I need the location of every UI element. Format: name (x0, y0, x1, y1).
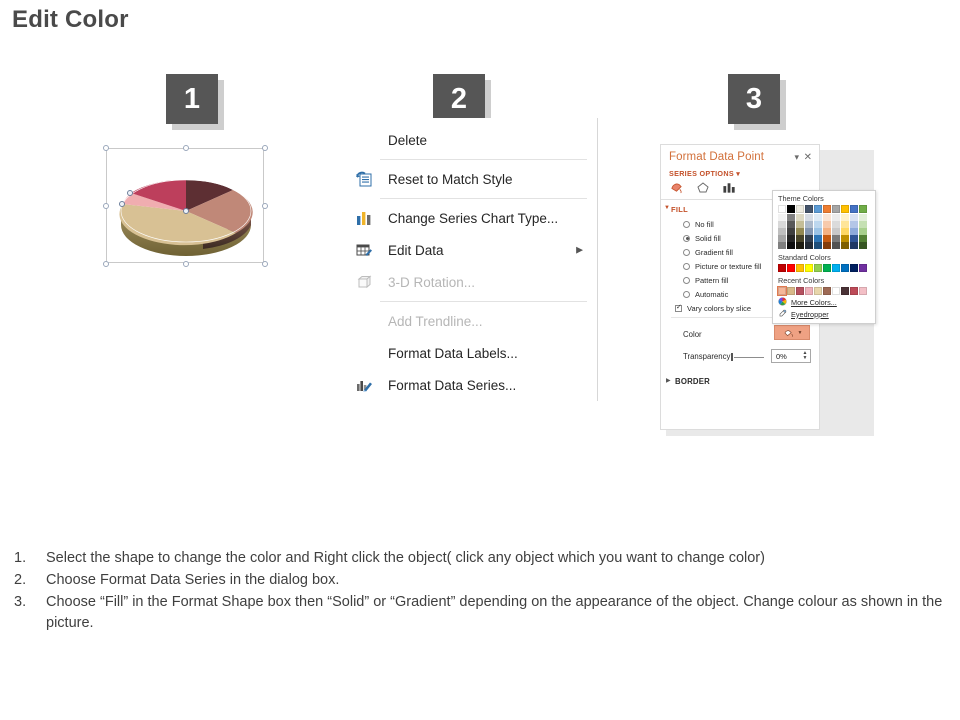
more-colors-label: More Colors... (791, 298, 837, 307)
theme-shade-row-2 (773, 228, 875, 235)
recent-swatch-9[interactable] (859, 287, 867, 295)
standard-swatch-6[interactable] (832, 264, 840, 272)
standard-swatch-8[interactable] (850, 264, 858, 272)
color-dropdown-popup: Theme Colors Standard Colors Recent Colo… (772, 190, 876, 324)
theme-shade-swatch-6-0[interactable] (832, 214, 840, 221)
fill-option-automatic[interactable]: Automatic (683, 287, 761, 301)
datapoint-handle-left-upper[interactable] (127, 190, 133, 196)
theme-shade-swatch-3-3[interactable] (805, 235, 813, 242)
more-colors-button[interactable]: More Colors... (773, 295, 875, 307)
menu-item-add-trendline: Add Trendline... (340, 305, 597, 337)
theme-shade-row-3 (773, 235, 875, 242)
eyedropper-label: Eyedropper (791, 310, 829, 319)
theme-shade-swatch-2-4[interactable] (796, 242, 804, 249)
menu-item-label: Edit Data (388, 243, 444, 258)
standard-colors-row (773, 264, 875, 272)
theme-shade-swatch-4-1[interactable] (814, 221, 822, 228)
instruction-number: 3. (14, 592, 46, 634)
pie-chart-svg (107, 149, 265, 264)
theme-shade-swatch-0-2[interactable] (778, 228, 786, 235)
step-badge-1: 1 (166, 74, 218, 124)
pie-chart-3d[interactable] (107, 149, 265, 264)
resize-handle-s[interactable] (183, 261, 189, 267)
instruction-number: 1. (14, 548, 46, 569)
fill-bucket-icon (782, 328, 796, 338)
transparency-spinner[interactable]: 0% ▲▼ (771, 349, 811, 363)
standard-swatch-1[interactable] (787, 264, 795, 272)
menu-item-label: 3-D Rotation... (388, 275, 475, 290)
theme-shade-swatch-9-1[interactable] (859, 221, 867, 228)
recent-colors-row (773, 287, 875, 295)
fill-section-collapse-icon[interactable]: ▼ (664, 205, 670, 211)
theme-shade-swatch-0-1[interactable] (778, 221, 786, 228)
panel-tab-strip (669, 181, 737, 199)
fill-option-solid-fill[interactable]: Solid fill (683, 231, 761, 245)
checkbox-icon-checked (675, 305, 682, 312)
recent-swatch-4[interactable] (814, 287, 822, 295)
theme-shade-swatch-9-4[interactable] (859, 242, 867, 249)
theme-shade-swatch-6-3[interactable] (832, 235, 840, 242)
rotation-3d-icon (354, 272, 374, 292)
theme-shade-swatch-4-2[interactable] (814, 228, 822, 235)
theme-shade-swatch-3-1[interactable] (805, 221, 813, 228)
chart-selection-frame[interactable] (106, 148, 264, 263)
theme-shade-swatch-3-2[interactable] (805, 228, 813, 235)
page-title: Edit Color (12, 6, 129, 34)
theme-colors-label: Theme Colors (773, 191, 875, 205)
theme-shade-swatch-8-1[interactable] (850, 221, 858, 228)
resize-handle-se[interactable] (262, 261, 268, 267)
menu-item-label: Format Data Series... (388, 378, 516, 393)
radio-icon (683, 277, 690, 284)
theme-shade-swatch-5-2[interactable] (823, 228, 831, 235)
theme-shade-swatch-2-2[interactable] (796, 228, 804, 235)
fill-option-label: Automatic (695, 290, 728, 299)
recent-swatch-0[interactable] (778, 287, 786, 295)
step-badge-3: 3 (728, 74, 780, 124)
theme-shade-swatch-1-2[interactable] (787, 228, 795, 235)
panel-close-icon[interactable]: ✕ (804, 152, 812, 163)
theme-shade-row-0 (773, 214, 875, 221)
menu-separator (380, 198, 587, 199)
menu-separator (380, 301, 587, 302)
radio-icon (683, 291, 690, 298)
menu-item-label: Delete (388, 133, 427, 148)
standard-swatch-5[interactable] (823, 264, 831, 272)
theme-shade-swatch-1-0[interactable] (787, 214, 795, 221)
eyedropper-button[interactable]: Eyedropper (773, 307, 875, 319)
recent-swatch-5[interactable] (823, 287, 831, 295)
standard-swatch-4[interactable] (814, 264, 822, 272)
instructions-list: 1. Select the shape to change the color … (14, 548, 944, 635)
theme-shade-row-4 (773, 242, 875, 249)
recent-swatch-8[interactable] (850, 287, 858, 295)
theme-shade-swatch-4-4[interactable] (814, 242, 822, 249)
theme-shade-swatch-5-0[interactable] (823, 214, 831, 221)
border-section-expand-icon[interactable]: ▶ (666, 377, 671, 384)
theme-shade-swatch-3-4[interactable] (805, 242, 813, 249)
color-label: Color (683, 330, 702, 339)
radio-icon (683, 249, 690, 256)
menu-item-format-data-labels[interactable]: Format Data Labels... (340, 337, 597, 369)
menu-item-label: Format Data Labels... (388, 346, 518, 361)
resize-handle-n[interactable] (183, 145, 189, 151)
blank-icon (354, 343, 374, 363)
blank-icon (354, 311, 374, 331)
panel-title: Format Data Point (669, 151, 764, 163)
theme-shade-swatch-9-0[interactable] (859, 214, 867, 221)
fill-option-gradient-fill[interactable]: Gradient fill (683, 245, 761, 259)
menu-separator (380, 159, 587, 160)
theme-shade-swatch-5-4[interactable] (823, 242, 831, 249)
theme-swatch-2[interactable] (796, 205, 804, 213)
theme-swatch-5[interactable] (823, 205, 831, 213)
transparency-slider-track[interactable] (734, 357, 764, 358)
fill-option-pattern-fill[interactable]: Pattern fill (683, 273, 761, 287)
blank-icon (354, 130, 374, 150)
standard-swatch-3[interactable] (805, 264, 813, 272)
theme-shade-swatch-8-2[interactable] (850, 228, 858, 235)
theme-swatch-8[interactable] (850, 205, 858, 213)
theme-shade-swatch-2-3[interactable] (796, 235, 804, 242)
edit-data-icon (354, 240, 374, 260)
fill-option-no-fill[interactable]: No fill (683, 217, 761, 231)
theme-shade-swatch-1-4[interactable] (787, 242, 795, 249)
resize-handle-sw[interactable] (103, 261, 109, 267)
theme-shade-swatch-7-1[interactable] (841, 221, 849, 228)
series-options-tab-icon[interactable] (722, 181, 737, 199)
theme-swatch-1[interactable] (787, 205, 795, 213)
theme-colors-base-row (773, 205, 875, 213)
recent-swatch-2[interactable] (796, 287, 804, 295)
theme-shade-swatch-4-0[interactable] (814, 214, 822, 221)
menu-item-label: Change Series Chart Type... (388, 211, 558, 226)
series-options-label: SERIES OPTIONS (669, 169, 734, 178)
reset-style-icon (354, 169, 374, 189)
vary-colors-label: Vary colors by slice (687, 304, 751, 313)
radio-icon (683, 221, 690, 228)
theme-shade-swatch-0-3[interactable] (778, 235, 786, 242)
theme-swatch-0[interactable] (778, 205, 786, 213)
radio-icon (683, 263, 690, 270)
menu-item-edit-data[interactable]: Edit Data ▶ (340, 234, 597, 266)
spinner-arrows-icon[interactable]: ▲▼ (801, 350, 809, 362)
theme-shade-swatch-4-3[interactable] (814, 235, 822, 242)
resize-handle-ne[interactable] (262, 145, 268, 151)
chart-type-icon (354, 208, 374, 228)
theme-shade-swatch-7-4[interactable] (841, 242, 849, 249)
theme-shade-swatch-8-0[interactable] (850, 214, 858, 221)
fill-options-list: No fill Solid fill Gradient fill Picture… (683, 217, 761, 315)
instruction-item: 3. Choose “Fill” in the Format Shape box… (14, 592, 944, 634)
instruction-text: Choose Format Data Series in the dialog … (46, 570, 944, 591)
fill-option-label: Picture or texture fill (695, 262, 761, 271)
instruction-text: Choose “Fill” in the Format Shape box th… (46, 592, 944, 634)
resize-handle-w[interactable] (103, 203, 109, 209)
instruction-number: 2. (14, 570, 46, 591)
recent-swatch-7[interactable] (841, 287, 849, 295)
fill-option-picture-or-texture-fill[interactable]: Picture or texture fill (683, 259, 761, 273)
standard-swatch-9[interactable] (859, 264, 867, 272)
theme-shade-swatch-8-4[interactable] (850, 242, 858, 249)
transparency-slider-knob[interactable] (731, 353, 733, 361)
fill-option-label: Pattern fill (695, 276, 728, 285)
menu-item-3d-rotation: 3-D Rotation... (340, 266, 597, 298)
theme-shade-row-1 (773, 221, 875, 228)
fill-section-header: FILL (671, 205, 688, 214)
resize-handle-nw[interactable] (103, 145, 109, 151)
theme-swatch-3[interactable] (805, 205, 813, 213)
color-dropdown-caret-icon: ▼ (798, 330, 803, 336)
fill-option-label: Gradient fill (695, 248, 733, 257)
step-badge-2: 2 (433, 74, 485, 124)
resize-handle-e[interactable] (262, 203, 268, 209)
theme-shade-swatch-9-2[interactable] (859, 228, 867, 235)
instruction-text: Select the shape to change the color and… (46, 548, 944, 569)
fill-option-label: No fill (695, 220, 714, 229)
theme-shade-swatch-8-3[interactable] (850, 235, 858, 242)
fill-option-label: Solid fill (695, 234, 721, 243)
border-section-header: BORDER (675, 377, 710, 386)
theme-swatch-4[interactable] (814, 205, 822, 213)
datapoint-handle-center[interactable] (183, 208, 189, 214)
menu-item-delete[interactable]: Delete (340, 124, 597, 156)
radio-icon-selected (683, 235, 690, 242)
theme-shade-swatch-5-3[interactable] (823, 235, 831, 242)
theme-shade-swatch-5-1[interactable] (823, 221, 831, 228)
menu-item-format-data-series[interactable]: Format Data Series... (340, 369, 597, 401)
chart-context-menu: Delete Reset to Match Style (340, 118, 598, 401)
eyedropper-icon (778, 309, 787, 320)
instruction-item: 2. Choose Format Data Series in the dial… (14, 570, 944, 591)
menu-item-change-series-chart-type[interactable]: Change Series Chart Type... (340, 202, 597, 234)
more-colors-icon (778, 297, 787, 308)
color-picker-button[interactable]: ▼ (774, 325, 810, 340)
theme-shade-swatch-6-4[interactable] (832, 242, 840, 249)
theme-shade-swatch-2-0[interactable] (796, 214, 804, 221)
theme-shade-swatch-6-1[interactable] (832, 221, 840, 228)
standard-swatch-2[interactable] (796, 264, 804, 272)
effects-tab-icon[interactable] (696, 181, 710, 199)
datapoint-handle-left-lower[interactable] (119, 201, 125, 207)
standard-swatch-7[interactable] (841, 264, 849, 272)
fill-line-tab-icon[interactable] (669, 181, 684, 199)
transparency-label: Transparency (683, 352, 730, 361)
format-series-icon (354, 375, 374, 395)
theme-shade-swatch-9-3[interactable] (859, 235, 867, 242)
chevron-down-icon: ▾ (736, 169, 740, 178)
menu-item-label: Reset to Match Style (388, 172, 513, 187)
theme-shade-swatch-7-2[interactable] (841, 228, 849, 235)
vary-colors-by-slice-checkbox[interactable]: Vary colors by slice (675, 301, 761, 315)
chevron-right-icon: ▶ (576, 245, 583, 256)
panel-options-caret-icon[interactable]: ▾ (794, 152, 799, 163)
theme-shade-swatch-2-1[interactable] (796, 221, 804, 228)
theme-shade-swatch-0-4[interactable] (778, 242, 786, 249)
menu-item-label: Add Trendline... (388, 314, 483, 329)
theme-swatch-9[interactable] (859, 205, 867, 213)
standard-swatch-0[interactable] (778, 264, 786, 272)
recent-swatch-1[interactable] (787, 287, 795, 295)
transparency-value: 0% (776, 352, 787, 361)
slide-root: Edit Color 1 2 3 (0, 0, 960, 720)
theme-shade-swatch-0-0[interactable] (778, 214, 786, 221)
theme-shade-swatch-6-2[interactable] (832, 228, 840, 235)
theme-shade-swatch-1-1[interactable] (787, 221, 795, 228)
theme-shade-swatch-7-0[interactable] (841, 214, 849, 221)
theme-shade-swatch-1-3[interactable] (787, 235, 795, 242)
recent-swatch-6[interactable] (832, 287, 840, 295)
standard-colors-label: Standard Colors (773, 249, 875, 264)
theme-shade-swatch-3-0[interactable] (805, 214, 813, 221)
theme-swatch-6[interactable] (832, 205, 840, 213)
theme-shade-swatch-7-3[interactable] (841, 235, 849, 242)
series-options-dropdown[interactable]: SERIES OPTIONS ▾ (669, 169, 740, 178)
recent-swatch-3[interactable] (805, 287, 813, 295)
menu-item-reset-to-match-style[interactable]: Reset to Match Style (340, 163, 597, 195)
theme-colors-shade-grid (773, 214, 875, 249)
theme-swatch-7[interactable] (841, 205, 849, 213)
instruction-item: 1. Select the shape to change the color … (14, 548, 944, 569)
recent-colors-label: Recent Colors (773, 272, 875, 287)
